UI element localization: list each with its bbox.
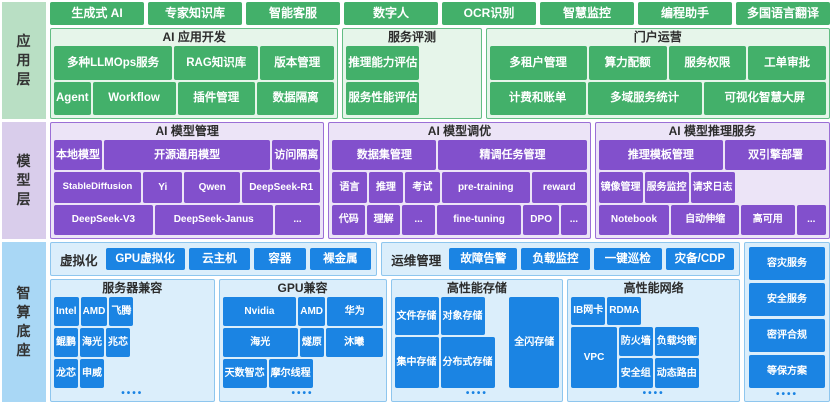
panel-row: 文件存储 对象存储 (395, 297, 508, 335)
panel-body: Intel AMD 飞腾 鲲鹏 海光 兆芯 龙芯 申威 (51, 297, 214, 401)
panel-body: 数据集管理 精调任务管理 语言 推理 考试 pre-training rewar… (329, 140, 589, 238)
infrastructure-panels: 服务器兼容 Intel AMD 飞腾 鲲鹏 海光 兆芯 (50, 279, 740, 402)
feature-chip[interactable]: 数据隔离 (257, 82, 334, 115)
infrastructure-layer-label: 智 算 底 座 (2, 242, 46, 402)
panel-high-performance-network: 高性能网络 IB网卡 RDMA VPC 防火墙 (567, 279, 740, 402)
feature-chip[interactable]: 服务性能评估 (346, 82, 419, 115)
panel-title: 高性能存储 (392, 280, 563, 297)
group-header-chip[interactable]: 数据集管理 (332, 140, 436, 170)
layer-label-char: 层 (17, 70, 32, 89)
layer-label-char: 座 (17, 341, 32, 360)
application-panels: AI 应用开发 多种LLMOps服务 RAG知识库 版本管理 Agent Wor… (50, 28, 830, 119)
feature-chip[interactable]: 计费和账单 (490, 82, 586, 115)
feature-chip-all-flash-storage[interactable]: 全闪存储 (509, 297, 559, 388)
model-layer-body: AI 模型管理 本地模型 开源通用模型 访问隔离 StableDiffusion… (50, 122, 830, 239)
feature-chip[interactable]: 动态路由 (655, 358, 699, 388)
panel-service-column: 容灾服务 安全服务 密评合规 等保方案 •••• (744, 242, 830, 402)
panel-ellipsis: •••• (395, 390, 560, 398)
feature-chip[interactable]: Agent (54, 82, 91, 115)
network-grid-wrapper: VPC 防火墙 负载均衡 安全组 动态路由 (571, 327, 736, 388)
app-tag[interactable]: OCR识别 (442, 2, 536, 25)
infrastructure-layer-body: 虚拟化 GPU虚拟化 云主机 容器 裸金属 运维管理 故障告警 负载监控 一键巡… (50, 242, 830, 402)
network-grid: 防火墙 负载均衡 安全组 动态路由 (619, 327, 736, 388)
strip-virtualization: 虚拟化 GPU虚拟化 云主机 容器 裸金属 (50, 242, 377, 276)
panel-row: 集中存储 分布式存储 (395, 337, 508, 388)
feature-chip[interactable]: 海光 (223, 328, 298, 357)
feature-chip[interactable]: 多租户管理 (490, 46, 587, 79)
feature-chip[interactable]: ... (561, 205, 586, 235)
feature-chip[interactable]: 分布式存储 (441, 337, 495, 388)
feature-chip[interactable]: 多域服务统计 (588, 82, 702, 115)
feature-chip[interactable]: 服务监控 (645, 172, 689, 202)
panel-row: Agent Workflow 插件管理 数据隔离 (54, 82, 334, 115)
feature-chip[interactable]: 燧原 (300, 328, 324, 357)
feature-chip[interactable]: 代码 (332, 205, 365, 235)
panel-row: 推理模板管理 双引擎部署 (599, 140, 826, 170)
feature-chip[interactable]: ... (402, 205, 435, 235)
feature-chip[interactable]: 工单审批 (748, 46, 826, 79)
panel-row: IB网卡 RDMA (571, 297, 736, 324)
panel-high-performance-storage: 高性能存储 文件存储 对象存储 集中存储 (391, 279, 564, 402)
panel-row: 安全组 动态路由 (619, 358, 736, 388)
app-tag[interactable]: 编程助手 (638, 2, 732, 25)
panel-ellipsis: •••• (54, 390, 211, 398)
feature-chip[interactable]: RAG知识库 (174, 46, 258, 79)
feature-chip[interactable]: Workflow (93, 82, 176, 115)
feature-chip[interactable]: AMD (298, 297, 325, 326)
app-tag[interactable]: 多国语言翻译 (736, 2, 830, 25)
feature-chip[interactable]: pre-training (442, 172, 530, 202)
feature-chip[interactable]: 多种LLMOps服务 (54, 46, 172, 79)
feature-chip[interactable]: 双引擎部署 (725, 140, 826, 170)
panel-ellipsis: •••• (749, 391, 825, 399)
panel-row: Notebook 自动伸缩 高可用 ... (599, 205, 826, 235)
panel-title: AI 模型管理 (51, 123, 323, 140)
strip-title: 运维管理 (387, 250, 445, 269)
panel-row: 本地模型 开源通用模型 访问隔离 (54, 140, 320, 170)
panel-ai-model-tuning: AI 模型调优 数据集管理 精调任务管理 语言 推理 考试 pre-traini… (328, 122, 590, 239)
panel-body: Nvidia AMD 华为 海光 燧原 沐曦 天数智芯 (220, 297, 386, 401)
feature-chip[interactable]: RDMA (607, 297, 641, 324)
panel-row: 数据集管理 精调任务管理 (332, 140, 586, 170)
feature-chip[interactable]: DeepSeek-V3 (54, 205, 153, 235)
feature-chip[interactable]: 沐曦 (326, 328, 383, 357)
feature-chip[interactable]: 安全组 (619, 358, 653, 388)
feature-chip[interactable]: 开源通用模型 (104, 140, 270, 170)
panel-portal-operations: 门户运营 多租户管理 算力配额 服务权限 工单审批 计费和账单 多域服务统计 可… (486, 28, 830, 119)
panel-server-compatibility: 服务器兼容 Intel AMD 飞腾 鲲鹏 海光 兆芯 (50, 279, 215, 402)
panel-row: StableDiffusion Yi Qwen DeepSeek-R1 (54, 172, 320, 202)
feature-chip[interactable]: 申威 (80, 359, 104, 388)
layer-label-char: 智 (17, 284, 32, 303)
feature-chip[interactable]: 推理能力评估 (346, 46, 419, 79)
storage-grid-wrapper: 文件存储 对象存储 集中存储 分布式存储 全闪存储 (395, 297, 560, 388)
feature-chip[interactable]: 文件存储 (395, 297, 439, 335)
panel-title: GPU兼容 (220, 280, 386, 297)
feature-chip[interactable]: Yi (143, 172, 182, 202)
panel-body: 文件存储 对象存储 集中存储 分布式存储 全闪存储 (392, 297, 563, 401)
app-tag[interactable]: 专家知识库 (148, 2, 242, 25)
panel-title: 服务器兼容 (51, 280, 214, 297)
panel-ellipsis: •••• (223, 390, 383, 398)
layer-label-char: 模 (17, 152, 32, 171)
layer-label-char: 算 (17, 303, 32, 322)
feature-chip[interactable]: 天数智芯 (223, 359, 267, 388)
infrastructure-layer: 智 算 底 座 虚拟化 GPU虚拟化 云主机 容器 裸金属 运维管理 (2, 242, 830, 402)
layer-label-char: 型 (17, 171, 32, 190)
panel-gpu-compatibility: GPU兼容 Nvidia AMD 华为 海光 燧原 沐曦 (219, 279, 387, 402)
infrastructure-main-area: 虚拟化 GPU虚拟化 云主机 容器 裸金属 运维管理 故障告警 负载监控 一键巡… (50, 242, 740, 402)
panel-title: 高性能网络 (568, 280, 739, 297)
panel-title: 服务评测 (343, 29, 480, 46)
panel-body: IB网卡 RDMA VPC 防火墙 负载均衡 (568, 297, 739, 401)
panel-row: 鲲鹏 海光 兆芯 (54, 328, 211, 357)
feature-chip[interactable]: 访问隔离 (272, 140, 320, 170)
application-tag-strip: 生成式 AI 专家知识库 智能客服 数字人 OCR识别 智慧监控 编程助手 多国… (50, 2, 830, 25)
feature-chip[interactable]: 可视化智慧大屏 (704, 82, 827, 115)
feature-chip[interactable]: 容灾服务 (749, 247, 825, 280)
panel-row: 计费和账单 多域服务统计 可视化智慧大屏 (490, 82, 826, 115)
panel-row: 语言 推理 考试 pre-training reward (332, 172, 586, 202)
panel-body: 容灾服务 安全服务 密评合规 等保方案 •••• (745, 243, 829, 401)
feature-chip[interactable]: reward (532, 172, 587, 202)
feature-chip[interactable]: 理解 (367, 205, 400, 235)
feature-chip[interactable]: 考试 (405, 172, 439, 202)
panel-row: 防火墙 负载均衡 (619, 327, 736, 357)
panel-row: Nvidia AMD 华为 (223, 297, 383, 326)
panel-row: 海光 燧原 沐曦 (223, 328, 383, 357)
feature-chip[interactable]: StableDiffusion (54, 172, 141, 202)
panel-row: Intel AMD 飞腾 (54, 297, 211, 326)
feature-chip[interactable]: 摩尔线程 (269, 359, 313, 388)
app-tag[interactable]: 智能客服 (246, 2, 340, 25)
feature-chip[interactable]: 插件管理 (178, 82, 255, 115)
panel-row: 多租户管理 算力配额 服务权限 工单审批 (490, 46, 826, 79)
feature-chip[interactable]: 华为 (327, 297, 382, 326)
panel-ai-model-management: AI 模型管理 本地模型 开源通用模型 访问隔离 StableDiffusion… (50, 122, 324, 239)
panel-row: 多种LLMOps服务 RAG知识库 版本管理 (54, 46, 334, 79)
feature-chip[interactable]: 推理 (369, 172, 403, 202)
strip-operations-management: 运维管理 故障告警 负载监控 一键巡检 灾备/CDP (381, 242, 740, 276)
panel-ellipsis: •••• (571, 390, 736, 398)
panel-ai-app-development: AI 应用开发 多种LLMOps服务 RAG知识库 版本管理 Agent Wor… (50, 28, 338, 119)
panel-row: 推理能力评估 (346, 46, 477, 79)
feature-chip[interactable]: 容器 (254, 248, 305, 270)
feature-chip[interactable]: 语言 (332, 172, 366, 202)
feature-chip[interactable]: 安全服务 (749, 283, 825, 316)
feature-chip[interactable]: 自动伸缩 (671, 205, 739, 235)
feature-chip[interactable]: 一键巡检 (594, 248, 662, 270)
feature-chip-vpc[interactable]: VPC (571, 327, 617, 388)
feature-chip[interactable]: Notebook (599, 205, 670, 235)
feature-chip[interactable]: DeepSeek-R1 (242, 172, 320, 202)
feature-chip[interactable]: GPU虚拟化 (106, 248, 185, 270)
feature-chip[interactable]: 鲲鹏 (54, 328, 78, 357)
model-layer: 模 型 层 AI 模型管理 本地模型 开源通用模型 访问隔离 Stabl (2, 122, 830, 239)
group-header-chip[interactable]: 精调任务管理 (438, 140, 586, 170)
panel-body: 本地模型 开源通用模型 访问隔离 StableDiffusion Yi Qwen… (51, 140, 323, 238)
feature-chip[interactable]: fine-tuning (437, 205, 521, 235)
feature-chip[interactable]: 高可用 (741, 205, 795, 235)
panel-body: 推理能力评估 服务性能评估 (343, 46, 480, 118)
feature-chip[interactable]: 镜像管理 (599, 172, 643, 202)
feature-chip[interactable]: 龙芯 (54, 359, 78, 388)
feature-chip[interactable]: 防火墙 (619, 327, 653, 357)
panel-service-evaluation: 服务评测 推理能力评估 服务性能评估 (342, 28, 481, 119)
feature-chip[interactable]: 兆芯 (106, 328, 130, 357)
feature-chip[interactable]: 服务权限 (669, 46, 747, 79)
feature-chip[interactable]: DPO (523, 205, 559, 235)
feature-chip[interactable]: 等保方案 (749, 355, 825, 388)
layer-label-char: 用 (17, 51, 32, 70)
infrastructure-strips: 虚拟化 GPU虚拟化 云主机 容器 裸金属 运维管理 故障告警 负载监控 一键巡… (50, 242, 740, 276)
feature-chip[interactable]: 故障告警 (449, 248, 517, 270)
model-layer-label: 模 型 层 (2, 122, 46, 239)
panel-body: 多种LLMOps服务 RAG知识库 版本管理 Agent Workflow 插件… (51, 46, 337, 118)
panel-row: 代码 理解 ... fine-tuning DPO ... (332, 205, 586, 235)
panel-title: AI 模型推理服务 (596, 123, 829, 140)
app-tag[interactable]: 生成式 AI (50, 2, 144, 25)
feature-chip[interactable]: 版本管理 (260, 46, 334, 79)
strip-title: 虚拟化 (56, 250, 102, 269)
panel-row: 龙芯 申威 (54, 359, 211, 388)
panel-title: 门户运营 (487, 29, 829, 46)
layer-label-char: 应 (17, 32, 32, 51)
feature-chip[interactable]: 云主机 (189, 248, 251, 270)
feature-chip[interactable]: 负载监控 (521, 248, 589, 270)
panel-body: 多租户管理 算力配额 服务权限 工单审批 计费和账单 多域服务统计 可视化智慧大… (487, 46, 829, 118)
feature-chip[interactable]: AMD (81, 297, 108, 326)
feature-chip[interactable]: 对象存储 (441, 297, 485, 335)
feature-chip[interactable]: ... (275, 205, 321, 235)
application-layer-label: 应 用 层 (2, 2, 46, 119)
panel-title: AI 模型调优 (329, 123, 589, 140)
application-layer-body: 生成式 AI 专家知识库 智能客服 数字人 OCR识别 智慧监控 编程助手 多国… (50, 2, 830, 119)
feature-chip[interactable]: 本地模型 (54, 140, 102, 170)
panel-title: AI 应用开发 (51, 29, 337, 46)
feature-chip[interactable]: Qwen (184, 172, 240, 202)
panel-row: 天数智芯 摩尔线程 (223, 359, 383, 388)
layer-label-char: 底 (17, 322, 32, 341)
feature-chip[interactable]: 灾备/CDP (666, 248, 734, 270)
application-layer: 应 用 层 生成式 AI 专家知识库 智能客服 数字人 OCR识别 智慧监控 编… (2, 2, 830, 119)
feature-chip[interactable]: IB网卡 (571, 297, 605, 324)
panel-row: 服务性能评估 (346, 82, 477, 115)
architecture-diagram: 应 用 层 生成式 AI 专家知识库 智能客服 数字人 OCR识别 智慧监控 编… (0, 0, 832, 404)
panel-row: DeepSeek-V3 DeepSeek-Janus ... (54, 205, 320, 235)
feature-chip[interactable]: Intel (54, 297, 79, 326)
feature-chip[interactable]: 裸金属 (310, 248, 372, 270)
panel-ai-model-inference-service: AI 模型推理服务 推理模板管理 双引擎部署 镜像管理 服务监控 请求日志 No (595, 122, 830, 239)
feature-chip[interactable]: 负载均衡 (655, 327, 699, 357)
feature-chip[interactable]: 飞腾 (109, 297, 133, 326)
feature-chip[interactable]: 集中存储 (395, 337, 439, 388)
layer-label-char: 层 (17, 190, 32, 209)
model-panels: AI 模型管理 本地模型 开源通用模型 访问隔离 StableDiffusion… (50, 122, 830, 239)
feature-chip[interactable]: 请求日志 (691, 172, 735, 202)
feature-chip[interactable]: Nvidia (223, 297, 297, 326)
feature-chip[interactable]: 推理模板管理 (599, 140, 724, 170)
feature-chip[interactable]: ... (797, 205, 826, 235)
feature-chip[interactable]: 算力配额 (589, 46, 667, 79)
app-tag[interactable]: 智慧监控 (540, 2, 634, 25)
panel-row: 镜像管理 服务监控 请求日志 (599, 172, 826, 202)
feature-chip[interactable]: 海光 (80, 328, 104, 357)
storage-grid: 文件存储 对象存储 集中存储 分布式存储 (395, 297, 508, 388)
feature-chip[interactable]: 密评合规 (749, 319, 825, 352)
app-tag[interactable]: 数字人 (344, 2, 438, 25)
panel-body: 推理模板管理 双引擎部署 镜像管理 服务监控 请求日志 Notebook 自动伸… (596, 140, 829, 238)
feature-chip[interactable]: DeepSeek-Janus (155, 205, 273, 235)
